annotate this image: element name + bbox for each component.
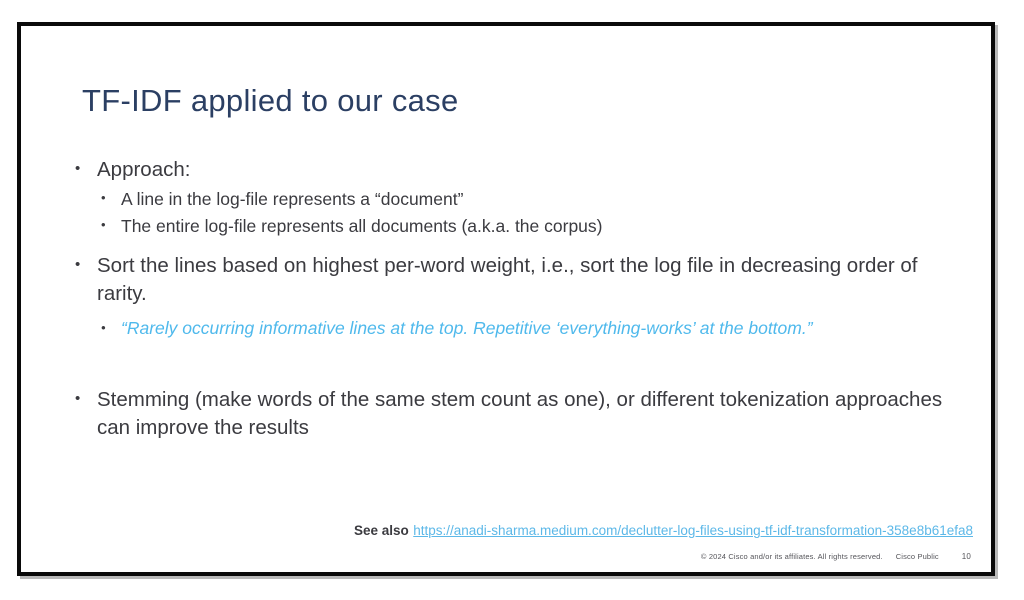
spacer (71, 240, 961, 252)
reference-link[interactable]: https://anadi-sharma.medium.com/declutte… (413, 523, 973, 538)
bullet-approach: Approach: (71, 156, 961, 184)
page-title: TF-IDF applied to our case (82, 83, 459, 119)
bullet-list-level2-approach: A line in the log-file represents a “doc… (71, 186, 961, 239)
slide-footer-legal: © 2024 Cisco and/or its affiliates. All … (701, 552, 971, 561)
bullet-stemming: Stemming (make words of the same stem co… (71, 386, 961, 442)
presentation-slide: TF-IDF applied to our case Approach: A l… (17, 22, 995, 576)
copyright-text: © 2024 Cisco and/or its affiliates. All … (701, 552, 883, 561)
sub-bullet-corpus-definition: The entire log-file represents all docum… (97, 213, 961, 239)
slide-body: Approach: A line in the log-file represe… (71, 156, 961, 444)
bullet-list-level2-quote: “Rarely occurring informative lines at t… (71, 316, 961, 341)
slide-canvas: TF-IDF applied to our case Approach: A l… (21, 26, 991, 572)
sub-bullet-document-definition: A line in the log-file represents a “doc… (97, 186, 961, 212)
bullet-list-level1: Approach: A line in the log-file represe… (71, 156, 961, 442)
spacer (71, 342, 961, 364)
spacer (71, 364, 961, 386)
classification-label: Cisco Public (896, 552, 939, 561)
page-number: 10 (962, 552, 971, 561)
bullet-sort-lines: Sort the lines based on highest per-word… (71, 252, 961, 308)
sub-bullet-quote: “Rarely occurring informative lines at t… (97, 316, 961, 341)
see-also-label: See also (354, 523, 409, 538)
footer-reference: See also https://anadi-sharma.medium.com… (21, 522, 973, 540)
